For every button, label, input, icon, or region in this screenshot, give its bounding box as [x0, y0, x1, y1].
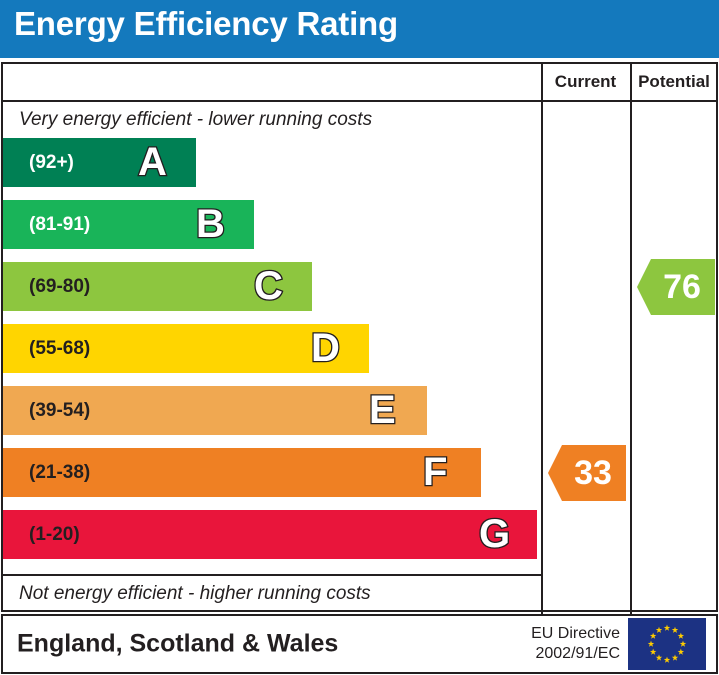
- column-header-current: Current: [541, 72, 630, 92]
- band-letter-d: D: [311, 328, 340, 368]
- current-rating-value: 33: [562, 456, 612, 490]
- band-range-g: (1-20): [29, 524, 80, 546]
- potential-rating-value: 76: [651, 270, 701, 304]
- band-bars: (92+)A(81-91)B(69-80)C(55-68)D(39-54)E(2…: [3, 138, 541, 574]
- caption-bottom: Not energy efficient - higher running co…: [3, 576, 541, 612]
- band-range-c: (69-80): [29, 276, 90, 298]
- band-row-d: (55-68)D: [3, 324, 541, 386]
- band-row-c: (69-80)C: [3, 262, 541, 324]
- eu-flag-icon: [628, 618, 706, 670]
- caption-top: Very energy efficient - lower running co…: [3, 102, 541, 138]
- footer-directive-line1: EU Directive: [531, 624, 620, 644]
- band-letter-f: F: [423, 452, 447, 492]
- rating-table: Current Potential Very energy efficient …: [1, 62, 718, 612]
- caption-top-text: Very energy efficient - lower running co…: [3, 109, 372, 131]
- band-bar-d: (55-68)D: [3, 324, 369, 373]
- band-row-f: (21-38)F: [3, 448, 541, 510]
- band-row-a: (92+)A: [3, 138, 541, 200]
- potential-rating-badge: 76: [637, 259, 715, 315]
- band-range-b: (81-91): [29, 214, 90, 236]
- band-range-f: (21-38): [29, 462, 90, 484]
- band-letter-g: G: [479, 514, 510, 554]
- band-bar-b: (81-91)B: [3, 200, 254, 249]
- band-row-e: (39-54)E: [3, 386, 541, 448]
- footer: England, Scotland & Wales EU Directive 2…: [1, 614, 718, 674]
- energy-efficiency-certificate: Energy Efficiency Rating Current Potenti…: [0, 0, 719, 675]
- band-range-a: (92+): [29, 152, 74, 174]
- band-letter-a: A: [138, 142, 167, 182]
- column-divider-potential: [630, 64, 632, 614]
- column-header-potential: Potential: [630, 72, 718, 92]
- band-range-d: (55-68): [29, 338, 90, 360]
- band-letter-b: B: [196, 204, 225, 244]
- band-bar-g: (1-20)G: [3, 510, 537, 559]
- band-bar-e: (39-54)E: [3, 386, 427, 435]
- band-bar-f: (21-38)F: [3, 448, 481, 497]
- band-bar-a: (92+)A: [3, 138, 196, 187]
- band-row-b: (81-91)B: [3, 200, 541, 262]
- caption-bottom-text: Not energy efficient - higher running co…: [3, 583, 371, 605]
- footer-directive-line2: 2002/91/EC: [531, 644, 620, 664]
- page-title: Energy Efficiency Rating: [14, 5, 398, 43]
- band-row-g: (1-20)G: [3, 510, 541, 572]
- band-letter-c: C: [254, 266, 283, 306]
- current-rating-badge: 33: [548, 445, 626, 501]
- band-range-e: (39-54): [29, 400, 90, 422]
- title-bar: Energy Efficiency Rating: [0, 0, 719, 58]
- band-letter-e: E: [369, 390, 396, 430]
- footer-directive: EU Directive 2002/91/EC: [531, 624, 620, 664]
- band-bar-c: (69-80)C: [3, 262, 312, 311]
- footer-region-label: England, Scotland & Wales: [17, 630, 338, 659]
- column-divider-current: [541, 64, 543, 614]
- column-header-row: Current Potential: [3, 64, 716, 100]
